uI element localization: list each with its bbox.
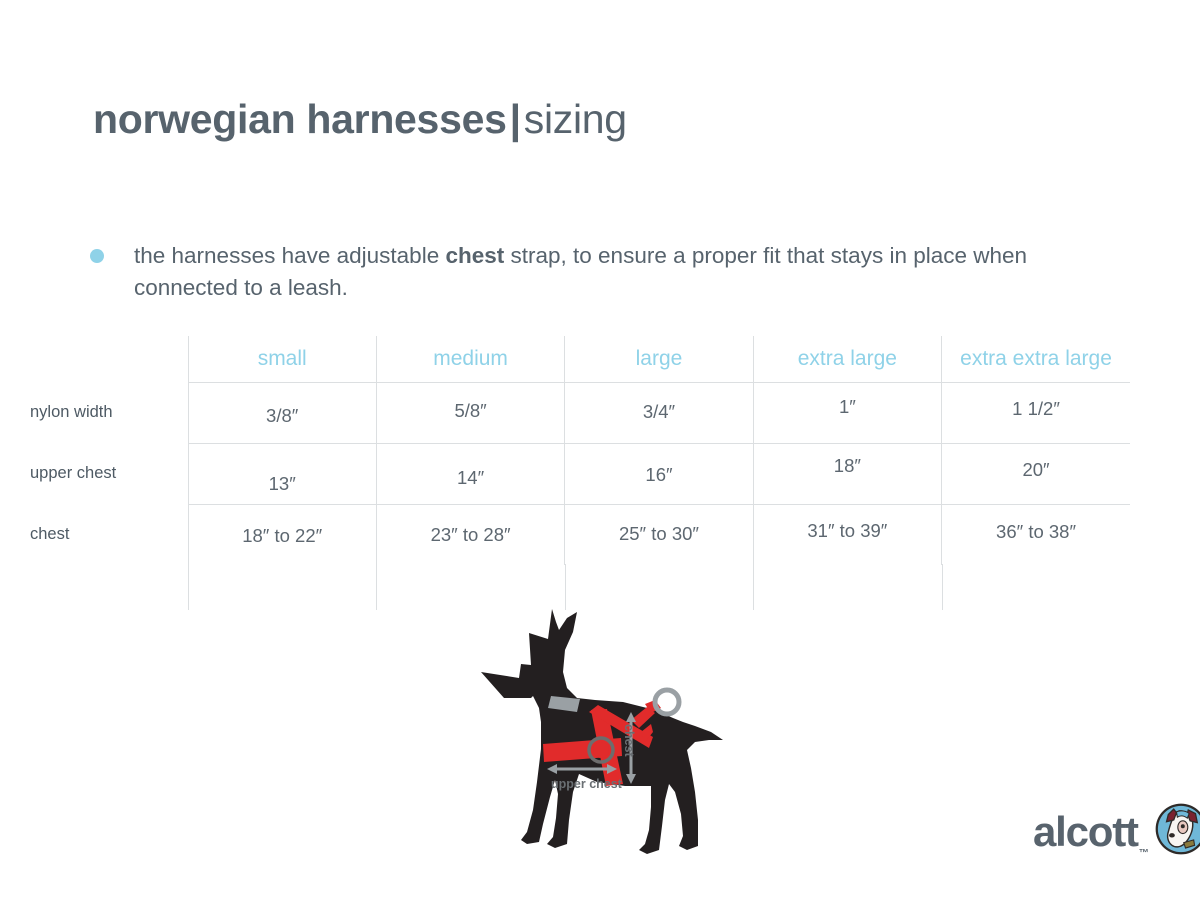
cell-value: 16″ (645, 464, 672, 486)
cell-chest-large: 25″ to 30″ (565, 504, 753, 565)
page-title-bold: norwegian harnesses (93, 96, 507, 142)
bullet-list-item: the harnesses have adjustable chest stra… (90, 240, 1080, 304)
cell-nylon-width-medium: 5/8″ (376, 382, 564, 443)
cell-nylon-width-extra-large: 1″ (753, 382, 941, 443)
sizing-table: small medium large extra large extra ext… (30, 336, 1130, 565)
sizing-table-wrapper: small medium large extra large extra ext… (30, 336, 1140, 576)
cell-value: 18″ (834, 455, 861, 477)
cell-value: 1 1/2″ (1012, 398, 1060, 420)
dog-harness-illustration: upper chest chest (455, 592, 755, 892)
row-label-upper-chest: upper chest (30, 443, 188, 504)
cell-value: 18″ to 22″ (242, 525, 322, 547)
cell-upper-chest-extra-extra-large: 20″ (942, 443, 1130, 504)
table-row: upper chest 13″ 14″ 16″ 18″ 20″ (30, 443, 1130, 504)
cell-value: 36″ to 38″ (996, 521, 1076, 543)
column-header-medium: medium (376, 336, 564, 382)
cell-value: 25″ to 30″ (619, 523, 699, 545)
column-header-small: small (188, 336, 376, 382)
page-title-separator: | (507, 96, 524, 142)
table-row: chest 18″ to 22″ 23″ to 28″ 25″ to 30″ 3… (30, 504, 1130, 565)
bullet-text-emphasis: chest (445, 243, 504, 268)
cell-nylon-width-extra-extra-large: 1 1/2″ (942, 382, 1130, 443)
row-label-chest: chest (30, 504, 188, 565)
cell-upper-chest-extra-large: 18″ (753, 443, 941, 504)
cell-nylon-width-small: 3/8″ (188, 382, 376, 443)
cell-chest-small: 18″ to 22″ (188, 504, 376, 565)
cell-value: 3/4″ (643, 401, 675, 423)
cell-value: 14″ (457, 467, 484, 489)
cell-upper-chest-medium: 14″ (376, 443, 564, 504)
cell-value: 23″ to 28″ (431, 524, 511, 546)
cell-value: 3/8″ (266, 405, 298, 427)
cell-value: 31″ to 39″ (807, 520, 887, 542)
cell-chest-extra-large: 31″ to 39″ (753, 504, 941, 565)
brand-logo: alcott ™ (1033, 800, 1200, 863)
bullet-text: the harnesses have adjustable chest stra… (134, 240, 1080, 304)
harness-ring-icon (655, 690, 679, 714)
cell-upper-chest-large: 16″ (565, 443, 753, 504)
row-label-nylon-width: nylon width (30, 382, 188, 443)
table-corner-cell (30, 336, 188, 382)
cell-chest-medium: 23″ to 28″ (376, 504, 564, 565)
logo-trademark: ™ (1139, 848, 1149, 859)
chest-label: chest (622, 724, 636, 757)
upper-chest-label: upper chest (551, 777, 623, 791)
dog-harness-svg: upper chest chest (455, 592, 755, 892)
cell-value: 20″ (1022, 459, 1049, 481)
page-title-light: sizing (524, 96, 627, 142)
cell-value: 1″ (839, 396, 856, 418)
logo-badge-svg (1152, 800, 1200, 858)
cell-value: 5/8″ (454, 400, 486, 422)
table-divider-extension (376, 564, 377, 610)
column-header-extra-extra-large: extra extra large (942, 336, 1130, 382)
column-header-large: large (565, 336, 753, 382)
table-divider-extension (188, 564, 189, 610)
table-header-row: small medium large extra large extra ext… (30, 336, 1130, 382)
table-divider-extension (942, 564, 943, 610)
cell-value: 13″ (269, 473, 296, 495)
column-header-extra-large: extra large (753, 336, 941, 382)
logo-wordmark: alcott (1033, 811, 1138, 853)
page-title: norwegian harnesses|sizing (93, 96, 627, 143)
cell-upper-chest-small: 13″ (188, 443, 376, 504)
logo-dog-badge-icon (1152, 800, 1200, 863)
table-row: nylon width 3/8″ 5/8″ 3/4″ 1″ 1 1/2″ (30, 382, 1130, 443)
cell-chest-extra-extra-large: 36″ to 38″ (942, 504, 1130, 565)
bullet-text-before: the harnesses have adjustable (134, 243, 445, 268)
bullet-dot-icon (90, 249, 104, 263)
cell-nylon-width-large: 3/4″ (565, 382, 753, 443)
